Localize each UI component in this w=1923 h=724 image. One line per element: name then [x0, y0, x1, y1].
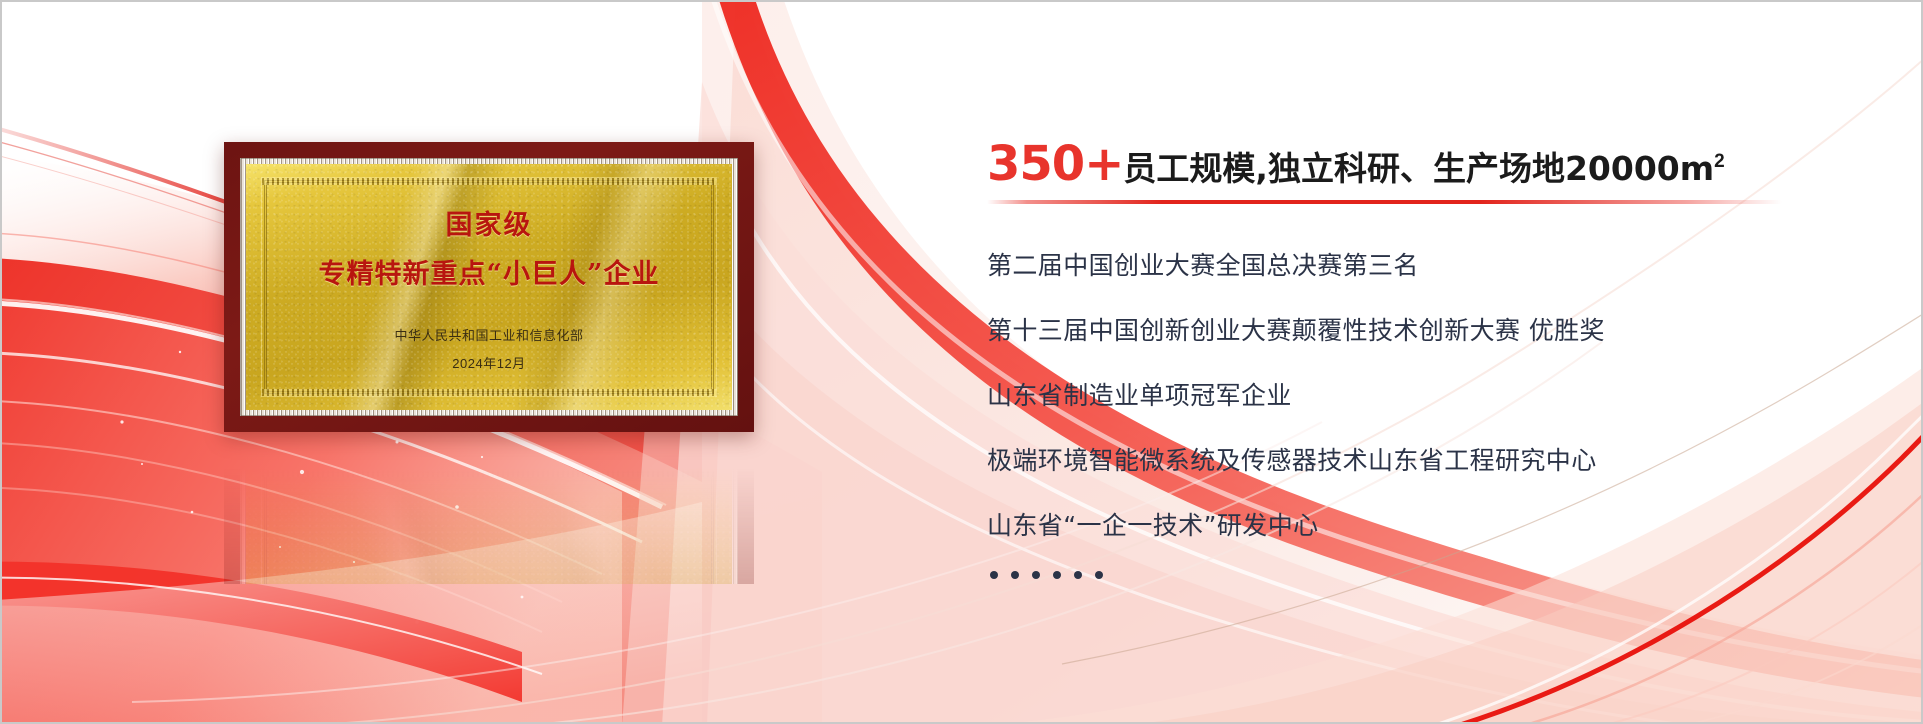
- ellipsis-dot: [1074, 571, 1082, 579]
- ellipsis-dots: [990, 571, 1867, 579]
- plaque-title-line1: 国家级: [446, 203, 533, 242]
- plaque-gold-plate: 国家级 专精特新重点“小巨人”企业 中华人民共和国工业和信息化部 2024年12…: [246, 164, 732, 410]
- list-item: 第二届中国创业大赛全国总决赛第三名: [987, 246, 1867, 282]
- ellipsis-dot: [1011, 571, 1019, 579]
- plaque-text-block: 国家级 专精特新重点“小巨人”企业 中华人民共和国工业和信息化部 2024年12…: [246, 164, 732, 410]
- list-item: 山东省“一企一技术”研发中心: [987, 506, 1867, 542]
- list-item: 第十三届中国创新创业大赛颠覆性技术创新大赛 优胜奖: [987, 311, 1867, 347]
- content-column: 350+ 员工规模,独立科研、生产场地20000m 2 第二届中国创业大赛全国总…: [987, 140, 1867, 579]
- ellipsis-dot: [1032, 571, 1040, 579]
- ellipsis-dot: [1095, 571, 1103, 579]
- headline-superscript: 2: [1714, 152, 1725, 171]
- plaque-issuer: 中华人民共和国工业和信息化部: [394, 325, 583, 344]
- list-item: 极端环境智能微系统及传感器技术山东省工程研究中心: [987, 441, 1867, 477]
- headline: 350+ 员工规模,独立科研、生产场地20000m 2: [987, 140, 1867, 188]
- list-item: 山东省制造业单项冠军企业: [987, 376, 1867, 412]
- ellipsis-dot: [1053, 571, 1061, 579]
- promo-banner: 国家级 专精特新重点“小巨人”企业 中华人民共和国工业和信息化部 2024年12…: [0, 0, 1923, 724]
- headline-number: 350+: [987, 140, 1123, 188]
- ellipsis-dot: [990, 571, 998, 579]
- plaque-frame: 国家级 专精特新重点“小巨人”企业 中华人民共和国工业和信息化部 2024年12…: [224, 142, 754, 432]
- headline-text: 员工规模,独立科研、生产场地20000m: [1123, 152, 1714, 185]
- plaque-date: 2024年12月: [452, 353, 525, 372]
- award-list: 第二届中国创业大赛全国总决赛第三名 第十三届中国创新创业大赛颠覆性技术创新大赛 …: [987, 246, 1867, 579]
- plaque-title-line2: 专精特新重点“小巨人”企业: [318, 252, 659, 291]
- headline-underline: [987, 200, 1782, 204]
- award-plaque: 国家级 专精特新重点“小巨人”企业 中华人民共和国工业和信息化部 2024年12…: [224, 142, 754, 432]
